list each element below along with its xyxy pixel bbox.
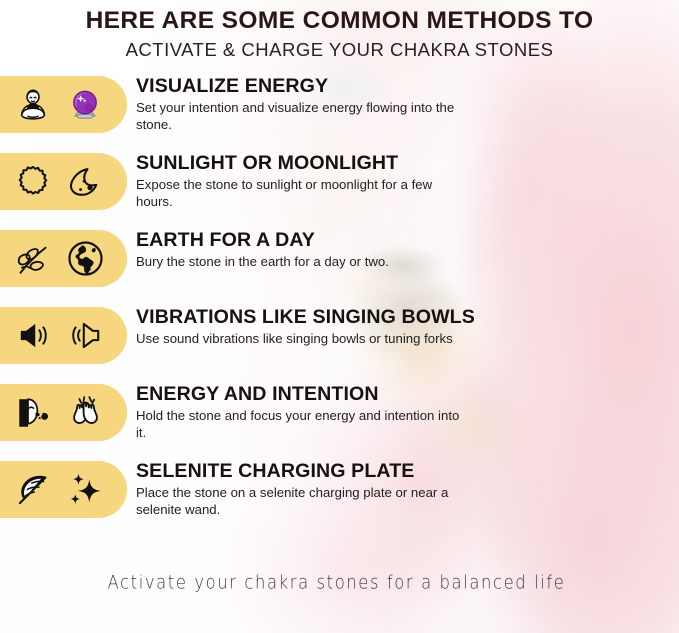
crescent-moon-icon: [64, 161, 106, 203]
method-description: Bury the stone in the earth for a day or…: [136, 254, 389, 271]
speaker-left-icon: [64, 315, 106, 357]
poster-footer: Activate your chakra stones for a balanc…: [0, 573, 679, 593]
method-description: Use sound vibrations like singing bowls …: [136, 331, 475, 348]
page-title: HERE ARE SOME COMMON METHODS TO: [0, 7, 679, 34]
crystal-ball-icon: [64, 84, 106, 126]
infographic-poster: HERE ARE SOME COMMON METHODS TO ACTIVATE…: [0, 0, 679, 633]
globe-icon: [64, 238, 106, 280]
method-row-sunlight-or-moonlight: SUNLIGHT OR MOONLIGHT Expose the stone t…: [0, 152, 679, 229]
leaf-branch-icon: [12, 238, 54, 280]
method-row-vibrations-like-singing-bowls: VIBRATIONS LIKE SINGING BOWLS Use sound …: [0, 306, 679, 383]
method-row-visualize-energy: VISUALIZE ENERGY Set your intention and …: [0, 75, 679, 152]
method-text: VIBRATIONS LIKE SINGING BOWLS Use sound …: [127, 306, 475, 347]
method-text: SUNLIGHT OR MOONLIGHT Expose the stone t…: [127, 152, 466, 210]
icon-pill: [0, 230, 127, 287]
icon-pill: [0, 384, 127, 441]
methods-list: VISUALIZE ENERGY Set your intention and …: [0, 75, 679, 537]
sparkles-icon: [64, 469, 106, 511]
method-description: Place the stone on a selenite charging p…: [136, 485, 466, 519]
icon-pill: [0, 76, 127, 133]
footer-tagline: Activate your chakra stones for a balanc…: [108, 572, 566, 593]
method-description: Hold the stone and focus your energy and…: [136, 408, 466, 442]
poster-header: HERE ARE SOME COMMON METHODS TO ACTIVATE…: [0, 0, 679, 62]
method-title: VIBRATIONS LIKE SINGING BOWLS: [136, 307, 475, 328]
method-title: VISUALIZE ENERGY: [136, 76, 466, 97]
method-title: SELENITE CHARGING PLATE: [136, 461, 466, 482]
method-text: EARTH FOR A DAY Bury the stone in the ea…: [127, 229, 389, 270]
kissing-face-icon: [12, 392, 54, 434]
method-row-selenite-charging-plate: SELENITE CHARGING PLATE Place the stone …: [0, 460, 679, 537]
person-meditating-icon: [12, 84, 54, 126]
method-text: ENERGY AND INTENTION Hold the stone and …: [127, 383, 466, 441]
method-row-energy-and-intention: ENERGY AND INTENTION Hold the stone and …: [0, 383, 679, 460]
method-title: EARTH FOR A DAY: [136, 230, 389, 251]
method-title: SUNLIGHT OR MOONLIGHT: [136, 153, 466, 174]
method-title: ENERGY AND INTENTION: [136, 384, 466, 405]
method-description: Expose the stone to sunlight or moonligh…: [136, 177, 466, 211]
sun-icon: [12, 161, 54, 203]
method-row-earth-for-a-day: EARTH FOR A DAY Bury the stone in the ea…: [0, 229, 679, 306]
icon-pill: [0, 153, 127, 210]
raised-hands-icon: [64, 392, 106, 434]
method-text: SELENITE CHARGING PLATE Place the stone …: [127, 460, 466, 518]
feather-icon: [12, 469, 54, 511]
method-description: Set your intention and visualize energy …: [136, 100, 466, 134]
icon-pill: [0, 461, 127, 518]
method-text: VISUALIZE ENERGY Set your intention and …: [127, 75, 466, 133]
speaker-right-icon: [12, 315, 54, 357]
icon-pill: [0, 307, 127, 364]
page-subtitle: ACTIVATE & CHARGE YOUR CHAKRA STONES: [0, 38, 679, 62]
